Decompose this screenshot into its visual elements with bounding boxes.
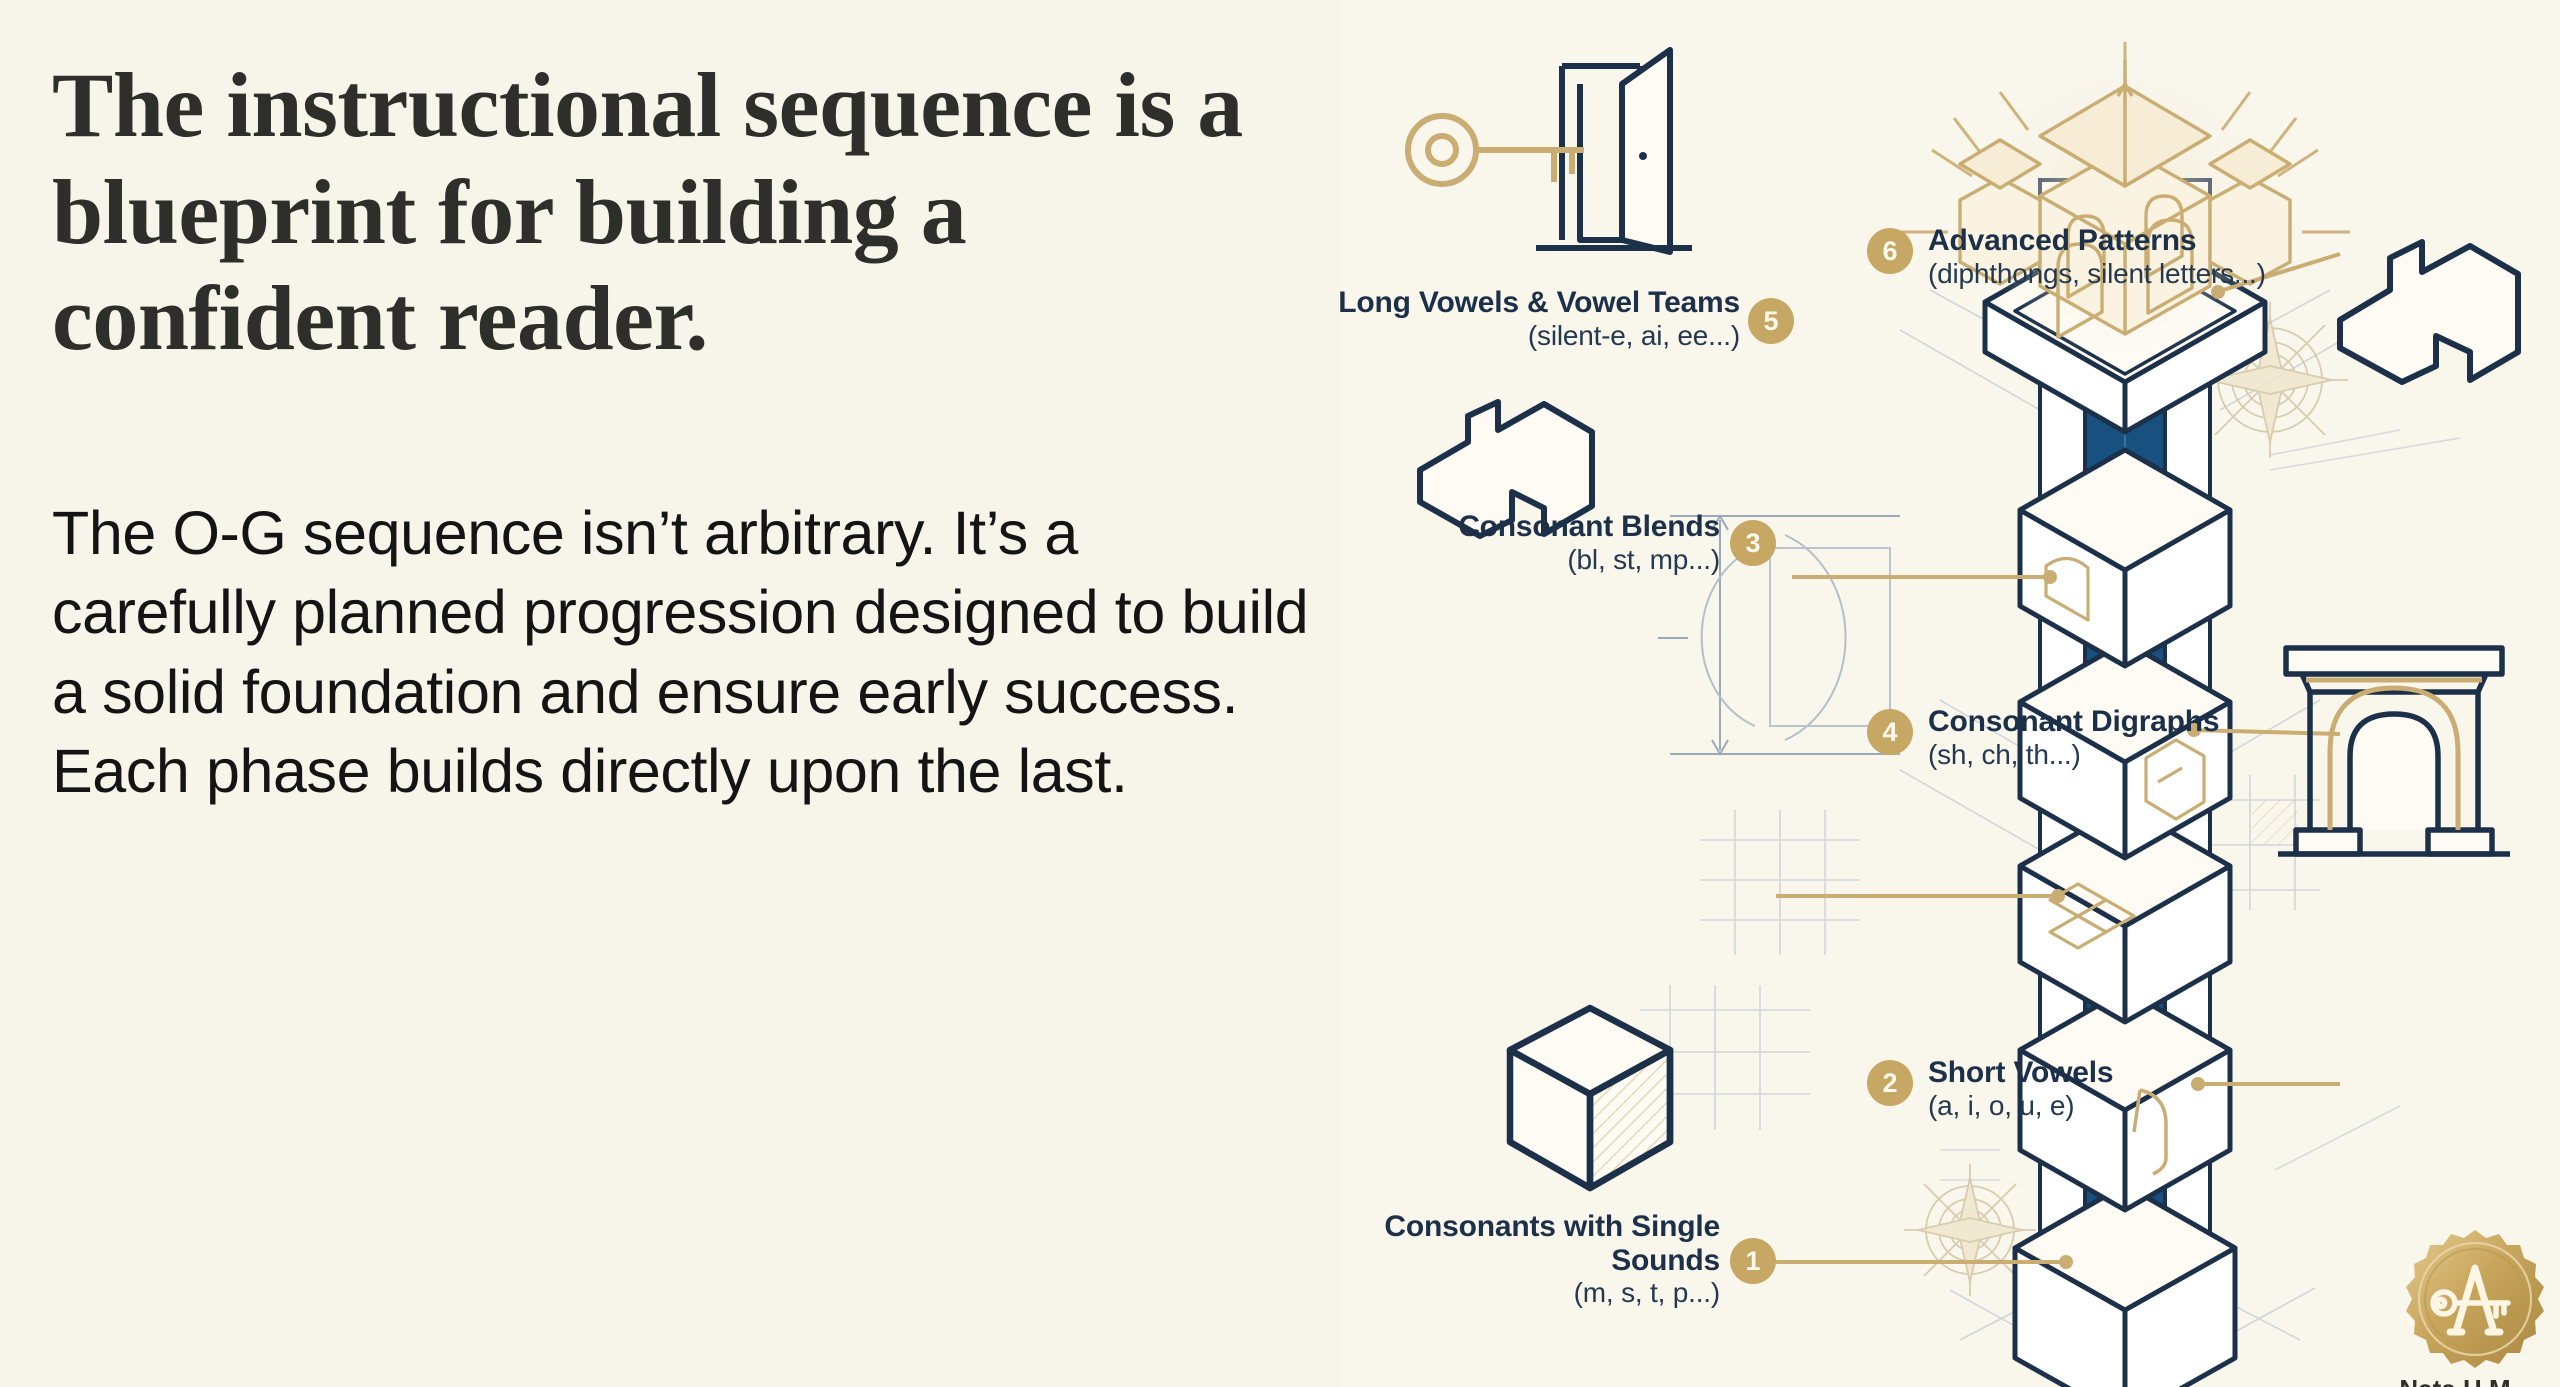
step-badge-2[interactable]: 2 (1867, 1060, 1913, 1106)
callout-advanced-patterns[interactable]: Advanced Patterns (diphthongs, silent le… (1928, 224, 2348, 290)
body-paragraph: The O-G sequence isn’t arbitrary. It’s a… (52, 494, 1312, 811)
step-badge-6[interactable]: 6 (1867, 228, 1913, 274)
castle-spire-icon (1900, 42, 2350, 337)
tower-blocks (1985, 222, 2265, 1387)
step-badge-5[interactable]: 5 (1748, 298, 1794, 344)
callout-detail-3: (bl, st, mp...) (1340, 544, 1720, 576)
step-badge-4[interactable]: 4 (1867, 709, 1913, 755)
callout-detail-5: (silent-e, ai, ee...) (1340, 320, 1740, 352)
callout-title-2: Short Vowels (1928, 1056, 2348, 1090)
callout-detail-2: (a, i, o, u, e) (1928, 1090, 2348, 1122)
open-door-with-key-icon (1408, 50, 1692, 252)
diagram-panel: 6 Advanced Patterns (diphthongs, silent … (1340, 0, 2560, 1387)
callout-title-6: Advanced Patterns (1928, 224, 2348, 258)
step-badge-1[interactable]: 1 (1730, 1238, 1776, 1284)
page-title: The instructional sequence is a blueprin… (52, 52, 1252, 372)
callout-title-5: Long Vowels & Vowel Teams (1340, 286, 1740, 320)
callout-detail-1: (m, s, t, p...) (1340, 1277, 1720, 1309)
callout-title-4: Consonant Digraphs (1928, 705, 2348, 739)
slide-canvas: The instructional sequence is a blueprin… (0, 0, 2560, 1387)
step-badge-3[interactable]: 3 (1730, 520, 1776, 566)
callout-title-1: Consonants with Single Sounds (1340, 1210, 1720, 1277)
callout-long-vowels[interactable]: Long Vowels & Vowel Teams (silent-e, ai,… (1340, 286, 1740, 352)
callout-consonant-digraphs[interactable]: Consonant Digraphs (sh, ch, th...) (1928, 705, 2348, 771)
callout-detail-6: (diphthongs, silent letters...) (1928, 258, 2348, 290)
callout-title-3: Consonant Blends (1340, 510, 1720, 544)
callout-short-vowels[interactable]: Short Vowels (a, i, o, u, e) (1928, 1056, 2348, 1122)
logo-caption: Nata H M (2340, 1374, 2560, 1387)
callout-consonant-blends[interactable]: Consonant Blends (bl, st, mp...) (1340, 510, 1720, 576)
callout-detail-4: (sh, ch, th...) (1928, 739, 2348, 771)
isometric-cube-icon (1510, 1008, 1670, 1188)
blueprint-illustration (1340, 0, 2560, 1387)
text-column: The instructional sequence is a blueprin… (52, 52, 1302, 811)
logo-seal[interactable] (2400, 1226, 2550, 1376)
callout-consonants-single-sounds[interactable]: Consonants with Single Sounds (m, s, t, … (1340, 1210, 1720, 1309)
key-and-a-gold-seal-icon (2400, 1226, 2550, 1376)
